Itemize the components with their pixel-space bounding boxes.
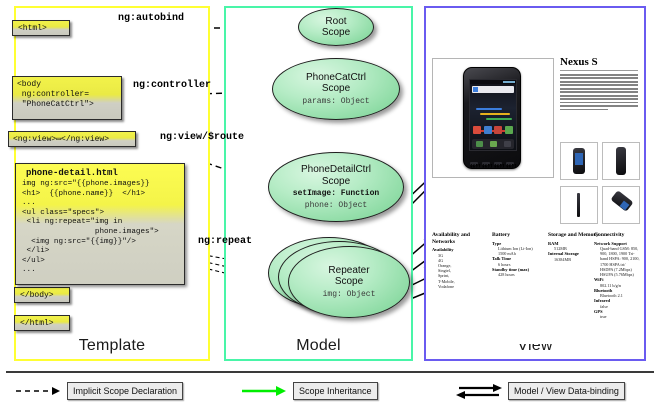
panel-label-template: Template	[16, 337, 208, 355]
spec-value: 16384MB	[548, 257, 600, 262]
code-box-ng-view: <ng:view>▭</ng:view>	[8, 131, 136, 147]
scope-root-line2: Scope	[322, 27, 350, 38]
spec-value: Vodafone	[432, 284, 488, 289]
dashed-arrow-icon	[14, 384, 62, 398]
thumbnail-3[interactable]	[560, 186, 598, 224]
legend-divider	[6, 371, 654, 373]
spec-header: Connectivity	[594, 232, 640, 239]
view-page-mock: Nexus S Availability and Netw	[432, 14, 638, 344]
scope-detail-line1: PhoneDetailCtrl	[301, 164, 371, 175]
note-code: img ng:src="{{phone.images}} <h1> {{phon…	[16, 180, 184, 276]
thumbnail-4[interactable]	[602, 186, 640, 224]
note-filename: phone-detail.html	[16, 164, 184, 180]
scope-detail-prop-phone: phone: Object	[305, 201, 367, 211]
sticky-note-phone-detail: phone-detail.html img ng:src="{{phone.im…	[15, 163, 185, 285]
legend-label-implicit: Implicit Scope Declaration	[67, 382, 183, 400]
spec-column-battery: Battery Type Lithium Ion (Li-Ion) 1500 m…	[492, 232, 544, 278]
code-box-html-open: <html>	[12, 20, 70, 36]
phone-device-image	[463, 67, 521, 169]
spec-column-availability: Availability and Networks Availability 3…	[432, 232, 488, 289]
scope-root-line1: Root	[325, 16, 346, 27]
phone-dock	[472, 139, 514, 149]
spec-value: 428 hours	[492, 272, 544, 277]
spec-column-storage: Storage and Memory RAM 512MB Internal St…	[548, 232, 600, 262]
phone-screen	[469, 79, 517, 151]
legend-item-inheritance: Scope Inheritance	[240, 382, 378, 400]
phone-search-widget	[472, 86, 514, 93]
scope-repeater[interactable]: Repeater Scope img: Object	[288, 246, 410, 318]
scope-detail-prop-setimage: setImage: Function	[293, 189, 379, 199]
phone-hero-frame	[432, 58, 554, 178]
spec-header: Availability and Networks	[432, 232, 488, 245]
scope-cat-line1: PhoneCatCtrl	[306, 72, 366, 83]
spec-header: Battery	[492, 232, 544, 239]
thumbnail-2[interactable]	[602, 142, 640, 180]
scope-cat-line2: Scope	[322, 83, 350, 94]
scope-cat-prop-params: params: Object	[302, 97, 369, 107]
spec-header: Storage and Memory	[548, 232, 600, 239]
edge-label-route: ng:view/$route	[160, 132, 244, 143]
scope-root[interactable]: Root Scope	[298, 8, 374, 46]
phone-hardware-buttons	[468, 160, 516, 166]
legend-item-databinding: Model / View Data-binding	[455, 382, 625, 400]
legend-label-inheritance: Scope Inheritance	[293, 382, 378, 400]
view-description-text	[560, 74, 638, 112]
diagram-canvas: Template <html> <body ng:controller= "Ph…	[0, 0, 660, 420]
panel-label-model: Model	[226, 337, 411, 355]
view-title-rule	[560, 70, 638, 71]
green-arrow-icon	[240, 384, 288, 398]
edge-label-autobind: ng:autobind	[118, 13, 184, 24]
spec-value: true	[594, 314, 640, 319]
legend-item-implicit: Implicit Scope Declaration	[14, 382, 183, 400]
edge-label-controller: ng:controller	[133, 80, 211, 91]
spec-value: band HSPA: 900, 2100,	[594, 256, 640, 261]
phone-app-icons	[472, 126, 514, 137]
code-box-body-close: </body>	[14, 287, 70, 303]
spec-column-connectivity: Connectivity Network Support Quad-band G…	[594, 232, 640, 320]
scope-phonedetailctrl[interactable]: PhoneDetailCtrl Scope setImage: Function…	[268, 152, 404, 222]
code-box-body-open: <body ng:controller= "PhoneCatCtrl">	[12, 76, 122, 120]
thumbnail-1[interactable]	[560, 142, 598, 180]
scope-rep-prop-img: img: Object	[323, 290, 376, 300]
code-box-html-close: </html>	[14, 315, 70, 331]
legend-label-databinding: Model / View Data-binding	[508, 382, 625, 400]
scope-detail-line2: Scope	[322, 176, 350, 187]
double-arrow-icon	[455, 384, 503, 398]
scope-phonecatctrl[interactable]: PhoneCatCtrl Scope params: Object	[272, 58, 400, 120]
edge-label-repeat: ng:repeat	[198, 236, 252, 247]
phone-statusbar	[470, 80, 516, 84]
scope-rep-line1: Repeater	[328, 265, 369, 276]
scope-rep-line2: Scope	[335, 276, 363, 287]
view-page-title: Nexus S	[560, 56, 598, 68]
